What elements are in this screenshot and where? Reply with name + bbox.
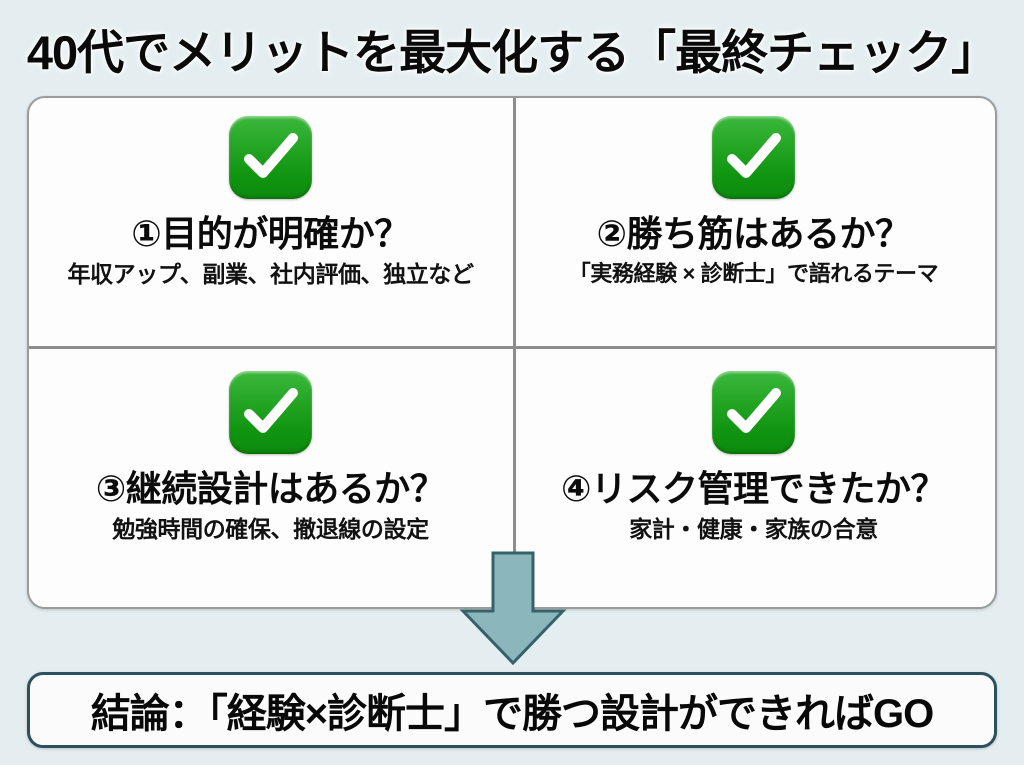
matrix-vertical-divider	[513, 98, 516, 609]
matrix-horizontal-divider	[29, 346, 997, 349]
page-title: 40代でメリットを最大化する「最終チェック」	[0, 14, 1024, 83]
checklist-cell-1[interactable]: ①目的が明確か？ 年収アップ、副業、社内評価、独立など	[29, 98, 512, 353]
green-check-icon	[229, 371, 312, 454]
conclusion-banner: 結論：「経験×診断士」で勝つ設計ができればGO	[27, 672, 997, 748]
checklist-cell-subtitle: 勉強時間の確保、撤退線の設定	[112, 516, 428, 544]
checklist-cell-3[interactable]: ③継続設計はあるか？ 勉強時間の確保、撤退線の設定	[29, 353, 512, 608]
checklist-cell-2[interactable]: ②勝ち筋はあるか？ 「実務経験 × 診断士」で語れるテーマ	[512, 98, 995, 353]
checklist-cell-subtitle: 年収アップ、副業、社内評価、独立など	[67, 261, 473, 289]
checklist-cell-subtitle: 「実務経験 × 診断士」で語れるテーマ	[569, 261, 938, 287]
checklist-cell-title: ①目的が明確か？	[131, 213, 409, 255]
conclusion-text: 結論：「経験×診断士」で勝つ設計ができればGO	[91, 681, 934, 739]
down-arrow-icon	[458, 551, 568, 666]
checklist-cell-subtitle: 家計・健康・家族の合意	[629, 516, 878, 544]
checklist-cell-title: ④リスク管理できたか？	[561, 468, 946, 510]
green-check-icon	[229, 116, 312, 199]
slide-canvas: 40代でメリットを最大化する「最終チェック」 ①目的が明確か？ 年収アップ、副業…	[0, 0, 1024, 765]
checklist-cell-title: ③継続設計はあるか？	[96, 468, 445, 510]
checklist-cell-title: ②勝ち筋はあるか？	[597, 213, 911, 255]
green-check-icon	[712, 116, 795, 199]
checklist-cell-4[interactable]: ④リスク管理できたか？ 家計・健康・家族の合意	[512, 353, 995, 608]
green-check-icon	[712, 371, 795, 454]
checklist-matrix: ①目的が明確か？ 年収アップ、副業、社内評価、独立など ②勝ち筋はあるか？ 「実…	[27, 96, 997, 609]
